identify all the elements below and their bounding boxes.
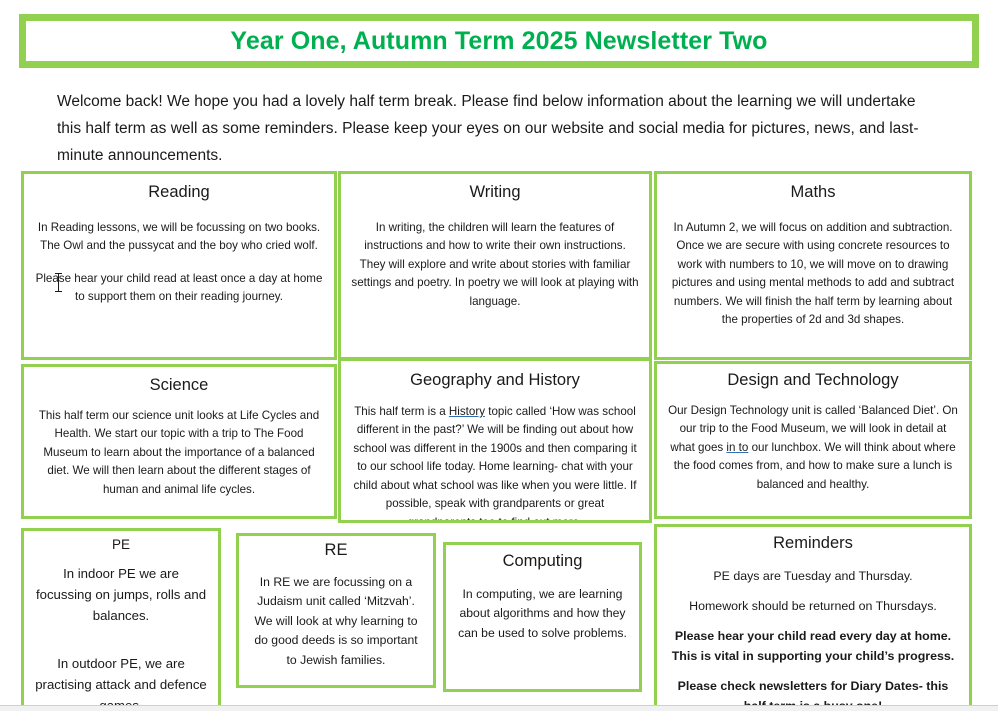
text-cursor-icon <box>58 273 59 292</box>
subject-title-design-technology: Design and Technology <box>657 371 969 390</box>
design-technology-paragraph-1: Our Design Technology unit is called ‘Ba… <box>667 402 959 495</box>
spellcheck-underline-history: History <box>449 405 485 418</box>
subject-box-re: RE In RE we are focussing on a Judaism u… <box>236 533 436 688</box>
subject-title-pe: PE <box>24 537 218 553</box>
spellcheck-underline-in-to: in to <box>726 441 748 454</box>
subject-box-geography-history: Geography and History This half term is … <box>338 358 652 523</box>
subject-body-science: This half term our science unit looks at… <box>24 407 334 500</box>
subject-box-maths: Maths In Autumn 2, we will focus on addi… <box>654 171 972 360</box>
reading-paragraph-2: Please hear your child read at least onc… <box>34 270 324 307</box>
subject-title-science: Science <box>24 376 334 395</box>
computing-paragraph-1: In computing, we are learning about algo… <box>456 585 629 644</box>
subject-box-reading: Reading In Reading lessons, we will be f… <box>21 171 337 360</box>
subject-body-re: In RE we are focussing on a Judaism unit… <box>239 573 433 671</box>
subject-title-writing: Writing <box>341 183 649 202</box>
reminders-line-2: Homework should be returned on Thursdays… <box>667 596 959 616</box>
geography-history-paragraph-1: This half term is a History topic called… <box>351 403 639 523</box>
subject-box-design-technology: Design and Technology Our Design Technol… <box>654 361 972 519</box>
subject-box-pe: PE In indoor PE we are focussing on jump… <box>21 528 221 708</box>
subject-body-reminders: PE days are Tuesday and Thursday. Homewo… <box>657 566 969 708</box>
subject-title-reminders: Reminders <box>657 534 969 553</box>
reminders-line-4: Please check newsletters for Diary Dates… <box>667 676 959 708</box>
writing-paragraph-1: In writing, the children will learn the … <box>351 219 639 312</box>
subject-title-re: RE <box>239 541 433 560</box>
subject-box-writing: Writing In writing, the children will le… <box>338 171 652 360</box>
subject-body-writing: In writing, the children will learn the … <box>341 219 649 312</box>
window-bottom-edge <box>0 705 998 711</box>
subject-body-design-technology: Our Design Technology unit is called ‘Ba… <box>657 402 969 495</box>
newsletter-page: Year One, Autumn Term 2025 Newsletter Tw… <box>0 0 998 711</box>
reminders-line-1: PE days are Tuesday and Thursday. <box>667 566 959 586</box>
geohist-text-after: topic called ‘How was school different i… <box>353 405 636 523</box>
subject-body-maths: In Autumn 2, we will focus on addition a… <box>657 219 969 330</box>
newsletter-title-banner: Year One, Autumn Term 2025 Newsletter Tw… <box>19 14 979 68</box>
subject-title-maths: Maths <box>657 183 969 202</box>
subject-body-pe: In indoor PE we are focussing on jumps, … <box>24 563 218 708</box>
reminders-line-3: Please hear your child read every day at… <box>667 626 959 666</box>
subject-box-science: Science This half term our science unit … <box>21 364 337 519</box>
subject-body-computing: In computing, we are learning about algo… <box>446 585 639 644</box>
science-paragraph-1: This half term our science unit looks at… <box>34 407 324 500</box>
subject-body-geography-history: This half term is a History topic called… <box>341 403 649 523</box>
maths-paragraph-1: In Autumn 2, we will focus on addition a… <box>667 219 959 330</box>
geohist-text-before: This half term is a <box>354 405 449 418</box>
subject-title-reading: Reading <box>24 183 334 202</box>
pe-paragraph-2: In outdoor PE, we are practising attack … <box>34 653 208 708</box>
subject-box-reminders: Reminders PE days are Tuesday and Thursd… <box>654 524 972 708</box>
re-paragraph-1: In RE we are focussing on a Judaism unit… <box>249 573 423 671</box>
page-title: Year One, Autumn Term 2025 Newsletter Tw… <box>230 27 767 56</box>
subject-title-geography-history: Geography and History <box>341 371 649 390</box>
pe-paragraph-1: In indoor PE we are focussing on jumps, … <box>34 563 208 626</box>
subject-box-computing: Computing In computing, we are learning … <box>443 542 642 692</box>
reading-paragraph-1: In Reading lessons, we will be focussing… <box>34 219 324 256</box>
subject-title-computing: Computing <box>446 552 639 571</box>
intro-paragraph: Welcome back! We hope you had a lovely h… <box>57 88 941 169</box>
subject-body-reading: In Reading lessons, we will be focussing… <box>24 219 334 307</box>
